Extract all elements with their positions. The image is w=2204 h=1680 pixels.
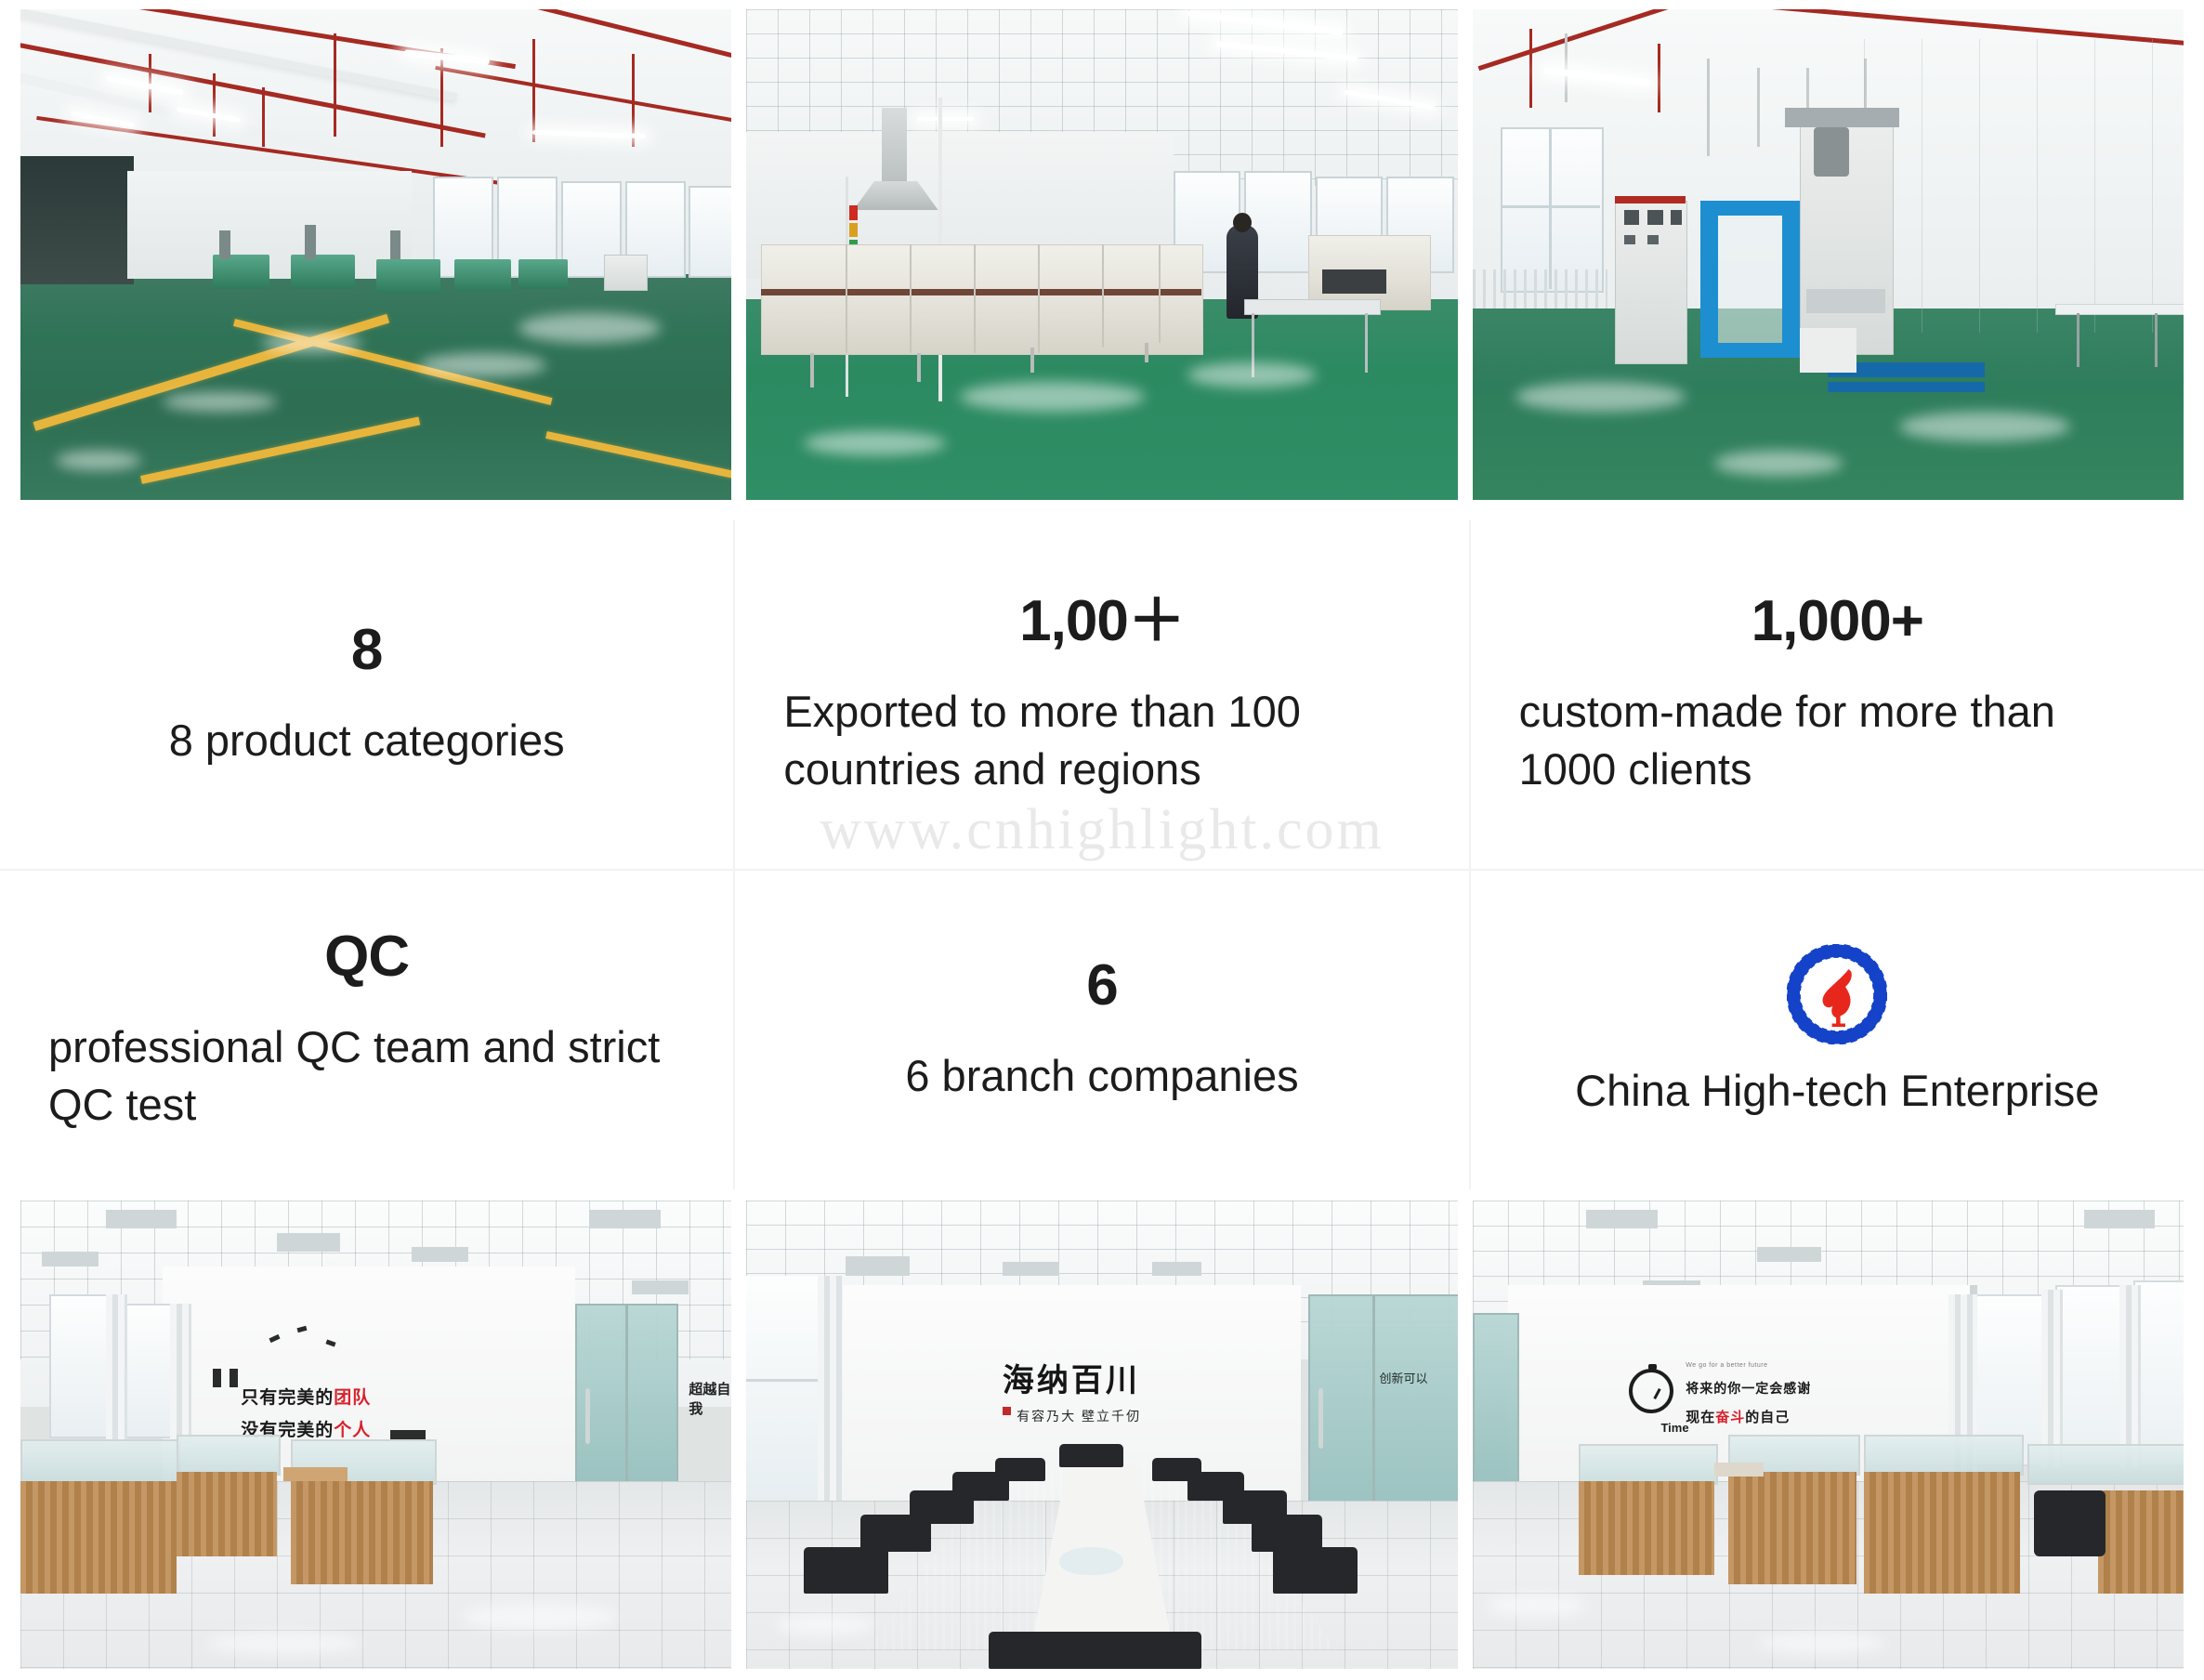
stat-number-custom-made-clients: 1,000+ [1519, 591, 2156, 651]
reflow-oven-production-line-photo [746, 9, 1457, 500]
stat-description-custom-made-clients: custom-made for more than 1000 clients [1519, 683, 2156, 798]
stat-cell-custom-made-clients: 1,000+ custom-made for more than 1000 cl… [1471, 520, 2204, 869]
stat-cell-product-categories: 8 8 product categories [0, 520, 735, 869]
bottom-photo-row: 只有完美的团队 没有完美的个人 超越自我 [0, 1201, 2204, 1669]
top-photo-row [0, 9, 2204, 500]
stat-description-export-countries: Exported to more than 100 countries and … [783, 683, 1420, 798]
stats-row-2: QC professional QC team and strict QC te… [0, 869, 2204, 1189]
stat-description-branch-companies: 6 branch companies [783, 1047, 1420, 1105]
stat-number-qc-team: QC [48, 926, 685, 987]
stat-number-product-categories: 8 [48, 620, 685, 680]
stat-cell-export-countries: 1,00＋ Exported to more than 100 countrie… [735, 520, 1470, 869]
office-open-area-team-slogan-photo: 只有完美的团队 没有完美的个人 超越自我 [20, 1201, 731, 1669]
factory-workshop-production-line-photo [20, 9, 731, 500]
stat-description-qc-team: professional QC team and strict QC test [48, 1018, 685, 1134]
testing-equipment-room-photo [1473, 9, 2184, 500]
china-high-tech-certificate-logo-icon [1787, 944, 1887, 1044]
office-open-area-time-decal-photo: Time We go for a better future 将来的你一定会感谢… [1473, 1201, 2184, 1669]
stat-cell-branch-companies: 6 6 branch companies [735, 869, 1470, 1189]
stat-cell-qc-team: QC professional QC team and strict QC te… [0, 869, 735, 1189]
stat-description-product-categories: 8 product categories [48, 712, 685, 769]
company-stats-grid: 8 8 product categories 1,00＋ Exported to… [0, 520, 2204, 1189]
stat-cell-china-high-tech-enterprise: China High-tech Enterprise [1471, 869, 2204, 1189]
conference-room-photo: 海纳百川 有容乃大 壁立千仞 创新可以 [746, 1201, 1457, 1669]
stats-row-1: 8 8 product categories 1,00＋ Exported to… [0, 520, 2204, 869]
stat-number-branch-companies: 6 [783, 955, 1420, 1016]
certificate-label: China High-tech Enterprise [1575, 1065, 2099, 1116]
company-strength-infographic: www.cnhighlight.com [0, 0, 2204, 1680]
stat-number-export-countries: 1,00＋ [783, 591, 1420, 651]
